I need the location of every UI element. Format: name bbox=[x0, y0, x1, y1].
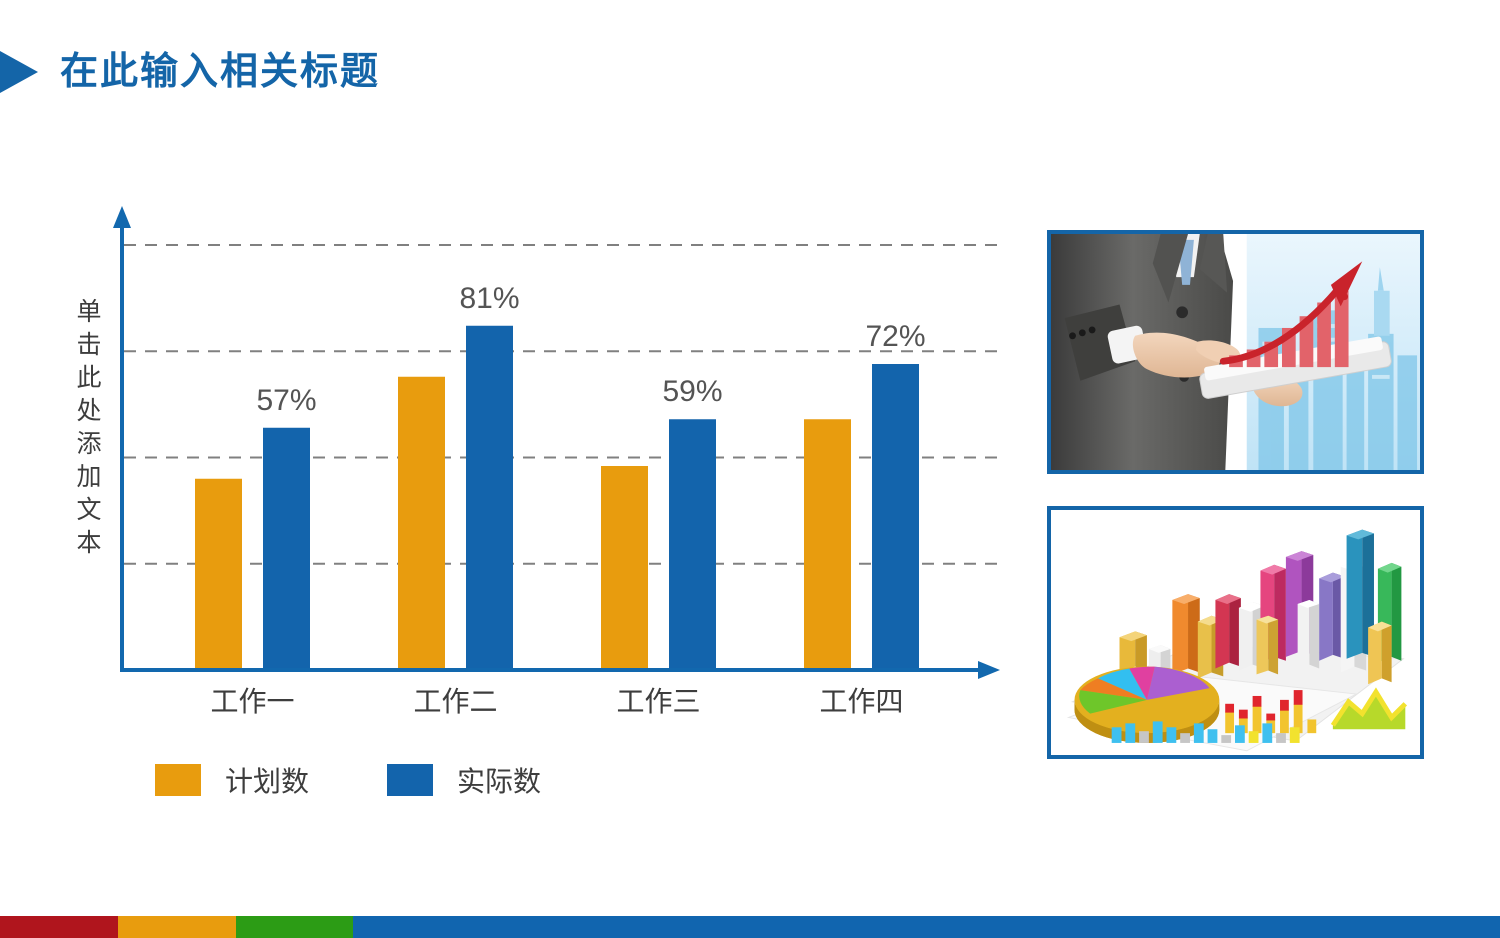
bar-工作三-实际数 bbox=[669, 419, 716, 670]
y-axis-label: 单击此处添加文本 bbox=[74, 296, 104, 560]
legend-item-计划数[interactable]: 计划数 bbox=[155, 760, 309, 800]
bar-工作一-计划数 bbox=[195, 479, 242, 670]
bar-工作四-计划数 bbox=[804, 419, 851, 670]
bar-工作二-实际数 bbox=[466, 326, 513, 670]
bottom-bar-segment-blue bbox=[353, 916, 1500, 938]
legend-label: 实际数 bbox=[457, 760, 541, 800]
legend-swatch-icon bbox=[155, 764, 201, 796]
category-label-工作二: 工作二 bbox=[413, 680, 497, 720]
bottom-color-bar bbox=[0, 916, 1500, 938]
chart-bars bbox=[195, 326, 919, 670]
bar-value-label-工作三: 59% bbox=[662, 375, 722, 409]
bar-value-label-工作四: 72% bbox=[865, 320, 925, 354]
colorful-3d-charts-illustration bbox=[1051, 510, 1420, 758]
bar-工作三-计划数 bbox=[601, 466, 648, 670]
x-axis-arrow-icon bbox=[978, 661, 1000, 679]
chart-gridlines bbox=[124, 245, 1000, 564]
bar-工作四-实际数 bbox=[872, 364, 919, 670]
bar-工作一-实际数 bbox=[263, 428, 310, 670]
image-colorful-3d-charts bbox=[1047, 506, 1424, 759]
category-label-工作四: 工作四 bbox=[819, 680, 903, 720]
bottom-bar-segment-red bbox=[0, 916, 118, 938]
category-label-工作一: 工作一 bbox=[210, 680, 294, 720]
bar-工作二-计划数 bbox=[398, 377, 445, 670]
bottom-bar-segment-green bbox=[236, 916, 353, 938]
bar-value-label-工作二: 81% bbox=[459, 282, 519, 316]
bottom-bar-segment-orange bbox=[118, 916, 236, 938]
chart-legend: 计划数实际数 bbox=[155, 760, 541, 800]
image-businessman-tablet bbox=[1047, 230, 1424, 474]
businessman-tablet-illustration bbox=[1051, 234, 1420, 473]
category-label-工作三: 工作三 bbox=[616, 680, 700, 720]
legend-label: 计划数 bbox=[225, 760, 309, 800]
bar-value-label-工作一: 57% bbox=[256, 384, 316, 418]
legend-item-实际数[interactable]: 实际数 bbox=[387, 760, 541, 800]
bar-chart: 单击此处添加文本 57%81%59%72% 工作一工作二工作三工作四 bbox=[0, 0, 1040, 830]
legend-swatch-icon bbox=[387, 764, 433, 796]
y-axis-arrow-icon bbox=[113, 206, 131, 228]
